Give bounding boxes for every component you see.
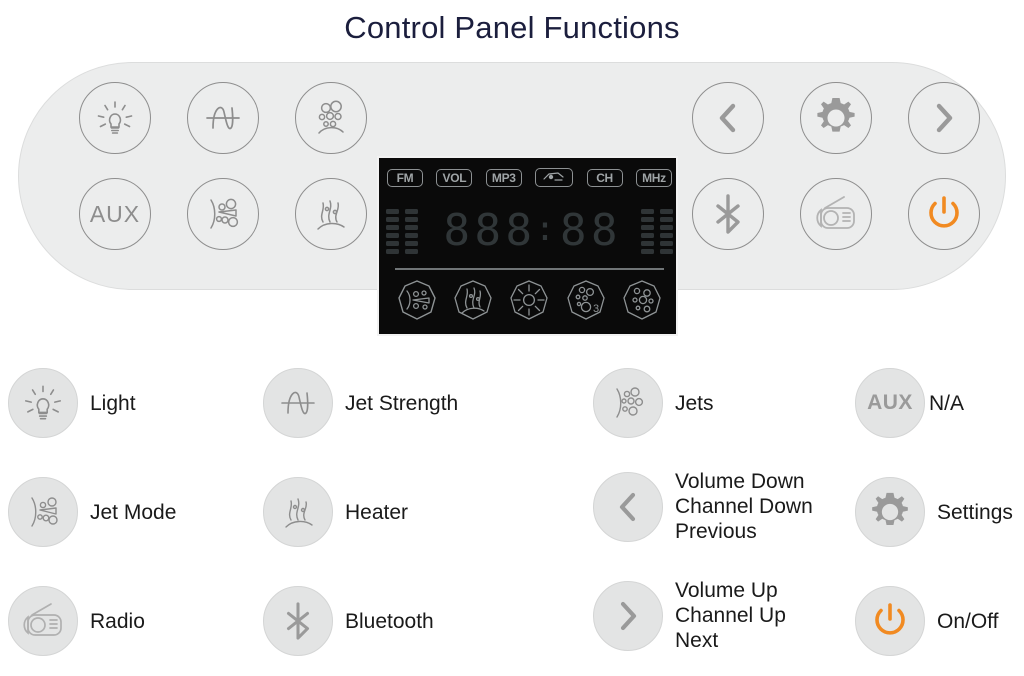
jet-mode-icon [200, 191, 246, 237]
bar-segment [641, 233, 654, 238]
bar-segment [405, 249, 418, 254]
light-button[interactable] [79, 82, 151, 154]
power-icon [922, 192, 966, 236]
svg-text:3: 3 [593, 303, 599, 315]
bar-segment [386, 241, 399, 246]
bluetooth-icon [263, 586, 333, 656]
chevron-left-icon [593, 472, 663, 542]
gear-icon [812, 94, 860, 142]
legend-item-aux: AUX N/A [855, 368, 964, 438]
legend-item-bluetooth: Bluetooth [263, 586, 434, 656]
bar-segment [641, 217, 654, 222]
lcd-icon-heater [449, 276, 497, 324]
chevron-right-icon [924, 98, 964, 138]
bar-segment [660, 233, 673, 238]
lcd-icon-ozone: 3 [562, 276, 610, 324]
lcd-digit: 8 [504, 208, 532, 254]
bar-segment [405, 225, 418, 230]
lcd-tag-vol: VOL [436, 169, 472, 187]
lcd-digit: 8 [442, 208, 470, 254]
bar-column [405, 209, 418, 254]
bar-segment [386, 233, 399, 238]
legend-item-label: On/Off [937, 609, 998, 634]
bar-segment [641, 209, 654, 214]
light-bulb-icon [8, 368, 78, 438]
legend-item-label: Heater [345, 500, 408, 525]
previous-button[interactable] [692, 82, 764, 154]
bar-segment [641, 225, 654, 230]
heater-icon [308, 191, 354, 237]
radio-icon [8, 586, 78, 656]
light-bulb-icon [93, 96, 137, 140]
legend-item-label: Jet Mode [90, 500, 176, 525]
lcd-tag-mp3: MP3 [486, 169, 522, 187]
legend-item-label: Settings [937, 500, 1013, 525]
legend-item-settings: Settings [855, 477, 1013, 547]
jets-bubbles-icon [308, 95, 354, 141]
speaker-icon [542, 171, 566, 185]
bar-column [386, 209, 399, 254]
lcd-colon: : [535, 209, 555, 253]
bluetooth-button[interactable] [692, 178, 764, 250]
bar-segment [405, 217, 418, 222]
control-panel: AUX FM VOL MP3 [18, 62, 1006, 290]
bar-segment [386, 209, 399, 214]
radio-icon [812, 192, 860, 236]
jet-strength-wave-icon [200, 95, 246, 141]
lcd-digits: 8 8 8 : 8 8 [442, 208, 617, 254]
lcd-tag-ch: CH [587, 169, 623, 187]
legend-item-label: N/A [929, 391, 964, 416]
legend-item-label: Volume Up Channel Up Next [675, 578, 786, 653]
jet-strength-wave-icon [263, 368, 333, 438]
chevron-right-icon [593, 581, 663, 651]
bar-segment [660, 241, 673, 246]
bar-segment [386, 225, 399, 230]
bar-segment [641, 249, 654, 254]
lcd-icon-row: 3 [389, 276, 670, 324]
legend-item-light: Light [8, 368, 136, 438]
bar-segment [405, 241, 418, 246]
aux-text-icon: AUX [90, 201, 140, 228]
bar-segment [405, 233, 418, 238]
bar-segment [386, 217, 399, 222]
lcd-bargraph-left [386, 209, 418, 254]
bar-segment [660, 209, 673, 214]
jet-strength-button[interactable] [187, 82, 259, 154]
legend-item-heater: Heater [263, 477, 408, 547]
lcd-digit: 8 [589, 208, 617, 254]
legend-item-label: Jets [675, 391, 714, 416]
legend-item-label: Volume Down Channel Down Previous [675, 469, 813, 544]
bar-segment [660, 217, 673, 222]
legend-item-jet-strength: Jet Strength [263, 368, 458, 438]
lcd-digit: 8 [473, 208, 501, 254]
lcd-tag-speaker [535, 168, 573, 187]
lcd-bargraph-right [641, 209, 673, 254]
legend-item-jet-mode: Jet Mode [8, 477, 176, 547]
legend-item-next: Volume Up Channel Up Next [593, 578, 786, 653]
lcd-icon-jet-mode [393, 276, 441, 324]
radio-button[interactable] [800, 178, 872, 250]
lcd-tag-mhz: MHz [636, 169, 672, 187]
aux-button[interactable]: AUX [79, 178, 151, 250]
lcd-divider [395, 268, 664, 270]
lcd-tag-fm: FM [387, 169, 423, 187]
heater-icon [263, 477, 333, 547]
legend-item-label: Light [90, 391, 136, 416]
heater-button[interactable] [295, 178, 367, 250]
aux-text-icon: AUX [855, 368, 925, 438]
bar-segment [660, 225, 673, 230]
lcd-icon-light [505, 276, 553, 324]
next-button[interactable] [908, 82, 980, 154]
legend-item-label: Radio [90, 609, 145, 634]
jets-bubbles-icon [593, 368, 663, 438]
lcd-icon-jets [618, 276, 666, 324]
lcd-value-row: 8 8 8 : 8 8 [386, 202, 673, 260]
legend: Light Jet Strength Jets AUX N/A [0, 340, 1024, 676]
lcd-tag-row: FM VOL MP3 CH MHz [387, 168, 672, 187]
bar-column [641, 209, 654, 254]
chevron-left-icon [708, 98, 748, 138]
legend-item-label: Jet Strength [345, 391, 458, 416]
bar-segment [386, 249, 399, 254]
page-title: Control Panel Functions [0, 6, 1024, 50]
bar-segment [405, 209, 418, 214]
gear-icon [855, 477, 925, 547]
bar-column [660, 209, 673, 254]
legend-item-jets: Jets [593, 368, 714, 438]
legend-item-power: On/Off [855, 586, 998, 656]
legend-item-previous: Volume Down Channel Down Previous [593, 469, 813, 544]
power-button[interactable] [908, 178, 980, 250]
settings-button[interactable] [800, 82, 872, 154]
bluetooth-icon [708, 192, 748, 236]
jet-mode-icon [8, 477, 78, 547]
power-icon [855, 586, 925, 656]
lcd-display: FM VOL MP3 CH MHz [377, 156, 678, 336]
jets-button[interactable] [295, 82, 367, 154]
bar-segment [660, 249, 673, 254]
jet-mode-button[interactable] [187, 178, 259, 250]
lcd-digit: 8 [558, 208, 586, 254]
legend-item-radio: Radio [8, 586, 145, 656]
legend-item-label: Bluetooth [345, 609, 434, 634]
bar-segment [641, 241, 654, 246]
